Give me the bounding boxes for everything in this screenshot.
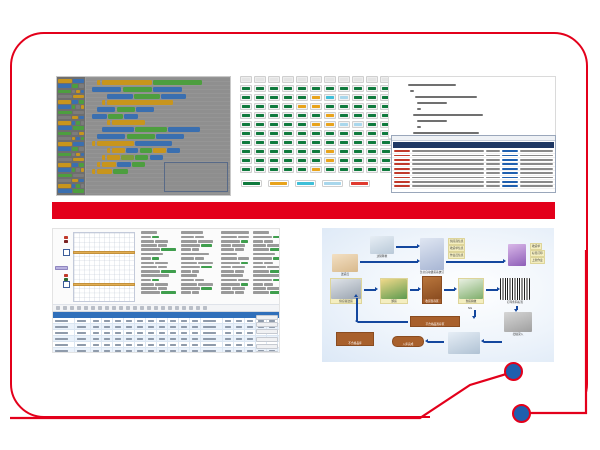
table-cell[interactable] — [146, 318, 157, 323]
palette-block[interactable] — [58, 184, 84, 188]
table-cell[interactable] — [53, 318, 75, 323]
table-cell[interactable] — [179, 342, 190, 347]
table-cell[interactable] — [223, 330, 234, 335]
form-field-row[interactable] — [253, 287, 280, 290]
table-cell[interactable] — [146, 324, 157, 329]
slot-cell[interactable] — [254, 112, 266, 119]
table-cell[interactable] — [102, 330, 113, 335]
slot-cell[interactable] — [310, 139, 322, 146]
slot-cell[interactable] — [240, 157, 252, 164]
form-field-row[interactable] — [141, 257, 179, 260]
table-cell[interactable] — [102, 348, 113, 353]
table-cell[interactable] — [75, 342, 91, 347]
palette-block[interactable] — [58, 168, 84, 172]
slot-cell[interactable] — [338, 157, 350, 164]
slot-column-header[interactable] — [352, 76, 364, 83]
form-field-row[interactable] — [253, 270, 280, 273]
palette-block[interactable] — [58, 79, 84, 83]
table-cell[interactable] — [124, 342, 135, 347]
form-upper-area[interactable] — [53, 229, 279, 305]
toolbar-icon[interactable] — [161, 306, 165, 310]
table-cell[interactable] — [223, 348, 234, 353]
slot-cell[interactable] — [268, 121, 280, 128]
table-cell[interactable] — [91, 330, 102, 335]
slot-cell[interactable] — [310, 94, 322, 101]
slot-cell[interactable] — [338, 166, 350, 173]
form-field-row[interactable] — [253, 240, 280, 243]
slot-cell[interactable] — [254, 148, 266, 155]
table-cell[interactable] — [53, 342, 75, 347]
table-cell[interactable] — [245, 348, 256, 353]
panel-slot-grid[interactable] — [240, 76, 392, 202]
slot-cell[interactable] — [240, 112, 252, 119]
slot-cell[interactable] — [240, 121, 252, 128]
palette-block[interactable] — [58, 105, 84, 109]
slot-cell[interactable] — [310, 148, 322, 155]
table-cell[interactable] — [223, 318, 234, 323]
slot-cell[interactable] — [366, 157, 378, 164]
datagrid-side-buttons[interactable] — [256, 315, 278, 353]
table-cell[interactable] — [124, 348, 135, 353]
slot-cell[interactable] — [366, 139, 378, 146]
code-block[interactable] — [107, 94, 228, 99]
slot-cell[interactable] — [296, 121, 308, 128]
flow-node-reject-staging[interactable]: 不合格品暂存区 — [410, 316, 460, 327]
slot-column-header[interactable] — [282, 76, 294, 83]
slot-cell[interactable] — [240, 103, 252, 110]
toolbar-icon[interactable] — [154, 306, 158, 310]
slot-column-header[interactable] — [240, 76, 252, 83]
table-cell[interactable] — [190, 336, 201, 341]
form-field-row[interactable] — [181, 287, 219, 290]
toolbar-icon[interactable] — [182, 306, 186, 310]
table-cell[interactable] — [135, 336, 146, 341]
toolbar-icon[interactable] — [77, 306, 81, 310]
table-cell[interactable] — [146, 330, 157, 335]
toolbar-icon[interactable] — [126, 306, 130, 310]
slot-cell[interactable] — [352, 148, 364, 155]
form-field-row[interactable] — [253, 279, 280, 282]
form-field-column[interactable] — [181, 231, 219, 296]
slot-column-header[interactable] — [324, 76, 336, 83]
slot-cell[interactable] — [282, 130, 294, 137]
toolbar-icon[interactable] — [98, 306, 102, 310]
palette-block[interactable] — [58, 90, 84, 94]
slot-cell[interactable] — [310, 121, 322, 128]
table-cell[interactable] — [201, 342, 223, 347]
table-cell[interactable] — [201, 330, 223, 335]
flow-node-scale[interactable]: 过磅称重 — [370, 236, 394, 258]
table-cell[interactable] — [102, 336, 113, 341]
form-field-row[interactable] — [141, 244, 179, 247]
table-cell[interactable] — [113, 318, 124, 323]
slot-cell[interactable] — [268, 85, 280, 92]
code-block[interactable] — [107, 120, 228, 125]
palette-block[interactable] — [58, 158, 84, 162]
form-field-column[interactable] — [141, 231, 179, 296]
slot-cell[interactable] — [324, 103, 336, 110]
table-cell[interactable] — [245, 330, 256, 335]
slot-column-header[interactable] — [254, 76, 266, 83]
flow-node-barcode-print[interactable]: 打印条码标签 — [500, 278, 530, 304]
form-field-row[interactable] — [141, 287, 179, 290]
table-cell[interactable] — [113, 348, 124, 353]
slot-cell[interactable] — [366, 112, 378, 119]
slot-cell[interactable] — [296, 85, 308, 92]
slot-cell[interactable] — [296, 94, 308, 101]
table-cell[interactable] — [157, 324, 168, 329]
slot-cell[interactable] — [324, 94, 336, 101]
slot-cell[interactable] — [338, 121, 350, 128]
slot-cell[interactable] — [338, 103, 350, 110]
table-cell[interactable] — [223, 324, 234, 329]
toolbar-icon[interactable] — [70, 306, 74, 310]
slot-column-header[interactable] — [296, 76, 308, 83]
form-field-row[interactable] — [253, 283, 280, 286]
table-cell[interactable] — [91, 348, 102, 353]
slot-cell[interactable] — [240, 166, 252, 173]
table-cell[interactable] — [157, 336, 168, 341]
log-row-list[interactable] — [392, 150, 555, 190]
toolbar-icon[interactable] — [63, 306, 67, 310]
slot-cell[interactable] — [296, 112, 308, 119]
toolbar-icon[interactable] — [112, 306, 116, 310]
slot-cell[interactable] — [338, 94, 350, 101]
form-field-row[interactable] — [141, 283, 179, 286]
slot-cell[interactable] — [240, 139, 252, 146]
slot-cell[interactable] — [366, 166, 378, 173]
form-field-row[interactable] — [141, 248, 179, 251]
table-cell[interactable] — [245, 342, 256, 347]
form-field-row[interactable] — [181, 279, 219, 282]
table-cell[interactable] — [179, 324, 190, 329]
table-cell[interactable] — [75, 336, 91, 341]
slot-cell[interactable] — [352, 94, 364, 101]
slot-cell[interactable] — [366, 148, 378, 155]
slot-cell[interactable] — [324, 139, 336, 146]
slot-cell[interactable] — [240, 130, 252, 137]
slot-cell[interactable] — [324, 148, 336, 155]
table-cell[interactable] — [113, 330, 124, 335]
table-cell[interactable] — [168, 348, 179, 353]
form-field-row[interactable] — [181, 236, 219, 239]
slot-cell[interactable] — [254, 157, 266, 164]
table-cell[interactable] — [168, 342, 179, 347]
palette-block[interactable] — [58, 111, 84, 115]
datagrid-body[interactable] — [53, 318, 279, 354]
form-field-row[interactable] — [181, 240, 219, 243]
slot-cell[interactable] — [268, 166, 280, 173]
toolbar-icon[interactable] — [91, 306, 95, 310]
palette-block[interactable] — [58, 153, 84, 157]
slot-cell[interactable] — [310, 85, 322, 92]
slot-cell[interactable] — [352, 121, 364, 128]
table-cell[interactable] — [190, 342, 201, 347]
table-cell[interactable] — [113, 324, 124, 329]
table-cell[interactable] — [179, 330, 190, 335]
form-field-row[interactable] — [141, 236, 179, 239]
table-cell[interactable] — [146, 348, 157, 353]
table-cell[interactable] — [157, 342, 168, 347]
code-block[interactable] — [107, 148, 228, 153]
connector-dot-upper[interactable] — [504, 362, 523, 381]
table-cell[interactable] — [102, 318, 113, 323]
slot-cell[interactable] — [282, 103, 294, 110]
table-cell[interactable] — [190, 318, 201, 323]
flow-node-supplier-person[interactable]: 送货员 — [332, 254, 358, 276]
palette-block[interactable] — [58, 116, 84, 120]
side-action-button[interactable] — [256, 329, 278, 334]
slot-cell[interactable] — [268, 139, 280, 146]
flow-node-inspection[interactable]: 到货验收 — [458, 278, 484, 304]
slot-cell[interactable] — [310, 166, 322, 173]
table-cell[interactable] — [146, 336, 157, 341]
palette-block[interactable] — [58, 142, 84, 146]
form-field-row[interactable] — [141, 266, 179, 269]
code-block[interactable] — [102, 127, 228, 132]
form-field-row[interactable] — [181, 266, 219, 269]
blocks-palette[interactable] — [57, 77, 86, 195]
table-cell[interactable] — [234, 330, 245, 335]
form-field-row[interactable] — [181, 244, 219, 247]
slot-cell[interactable] — [352, 103, 364, 110]
code-block[interactable] — [102, 100, 228, 105]
table-cell[interactable] — [102, 324, 113, 329]
slot-cell[interactable] — [268, 130, 280, 137]
slot-cell[interactable] — [338, 148, 350, 155]
table-cell[interactable] — [234, 348, 245, 353]
slot-grid[interactable] — [240, 76, 392, 173]
table-cell[interactable] — [190, 330, 201, 335]
table-cell[interactable] — [75, 348, 91, 353]
table-cell[interactable] — [91, 318, 102, 323]
code-block[interactable] — [92, 114, 228, 119]
table-cell[interactable] — [135, 348, 146, 353]
table-cell[interactable] — [168, 324, 179, 329]
toolbar-icon[interactable] — [133, 306, 137, 310]
slot-cell[interactable] — [268, 157, 280, 164]
slot-cell[interactable] — [366, 85, 378, 92]
panel-data-form[interactable] — [52, 228, 280, 353]
form-field-row[interactable] — [253, 266, 280, 269]
slot-cell[interactable] — [366, 103, 378, 110]
toolbar-icon[interactable] — [196, 306, 200, 310]
toolbar-icon[interactable] — [140, 306, 144, 310]
form-field-row[interactable] — [181, 248, 219, 251]
toolbar-icon[interactable] — [119, 306, 123, 310]
table-cell[interactable] — [168, 318, 179, 323]
palette-block[interactable] — [58, 147, 84, 151]
palette-block[interactable] — [58, 121, 84, 125]
slot-cell[interactable] — [282, 166, 294, 173]
slot-cell[interactable] — [310, 130, 322, 137]
toolbar-icon[interactable] — [84, 306, 88, 310]
form-node-box-2[interactable] — [63, 281, 70, 288]
form-field-row[interactable] — [253, 291, 280, 294]
slot-cell[interactable] — [268, 94, 280, 101]
table-cell[interactable] — [53, 336, 75, 341]
slot-cell[interactable] — [268, 112, 280, 119]
side-action-button[interactable] — [256, 315, 278, 320]
form-field-row[interactable] — [181, 291, 219, 294]
slot-cell[interactable] — [324, 121, 336, 128]
table-cell[interactable] — [201, 348, 223, 353]
table-cell[interactable] — [234, 336, 245, 341]
flow-node-unload[interactable]: 卸货 — [380, 278, 408, 304]
slot-cell[interactable] — [366, 130, 378, 137]
palette-block[interactable] — [58, 126, 84, 130]
table-row[interactable] — [53, 348, 279, 353]
table-cell[interactable] — [124, 330, 135, 335]
slot-cell[interactable] — [296, 166, 308, 173]
blocks-canvas[interactable] — [86, 77, 230, 195]
palette-block[interactable] — [58, 137, 84, 141]
table-cell[interactable] — [201, 336, 223, 341]
form-field-row[interactable] — [141, 279, 179, 282]
toolbar-icon[interactable] — [105, 306, 109, 310]
slot-cell[interactable] — [254, 166, 266, 173]
flow-node-terminal[interactable]: 紧急全自动储货系统订单 — [420, 238, 444, 274]
code-block[interactable] — [97, 107, 228, 112]
code-block[interactable] — [92, 141, 228, 146]
table-cell[interactable] — [53, 348, 75, 353]
side-action-button[interactable] — [256, 344, 278, 349]
palette-block[interactable] — [58, 174, 84, 178]
table-cell[interactable] — [245, 336, 256, 341]
form-field-row[interactable] — [181, 283, 219, 286]
slot-cell[interactable] — [310, 103, 322, 110]
table-cell[interactable] — [135, 330, 146, 335]
slot-cell[interactable] — [324, 112, 336, 119]
slot-cell[interactable] — [268, 103, 280, 110]
slot-cell[interactable] — [254, 94, 266, 101]
table-cell[interactable] — [179, 318, 190, 323]
form-field-row[interactable] — [141, 270, 179, 273]
table-cell[interactable] — [113, 342, 124, 347]
form-field-row[interactable] — [181, 262, 219, 265]
table-cell[interactable] — [223, 342, 234, 347]
form-field-row[interactable] — [141, 262, 179, 265]
table-cell[interactable] — [135, 324, 146, 329]
toolbar-icon[interactable] — [168, 306, 172, 310]
slot-cell[interactable] — [310, 112, 322, 119]
palette-block[interactable] — [58, 189, 84, 193]
slot-cell[interactable] — [352, 112, 364, 119]
slot-cell[interactable] — [324, 130, 336, 137]
slot-cell[interactable] — [296, 103, 308, 110]
connector-dot-lower[interactable] — [512, 404, 531, 423]
table-cell[interactable] — [190, 348, 201, 353]
form-field-row[interactable] — [181, 257, 219, 260]
toolbar-icon[interactable] — [147, 306, 151, 310]
flow-node-printer[interactable] — [508, 244, 526, 266]
table-cell[interactable] — [201, 318, 223, 323]
slot-cell[interactable] — [296, 157, 308, 164]
table-cell[interactable] — [53, 330, 75, 335]
table-cell[interactable] — [91, 324, 102, 329]
slot-cell[interactable] — [324, 85, 336, 92]
flow-node-inbound-complete[interactable]: 入库完成 — [392, 336, 424, 347]
slot-cell[interactable] — [240, 94, 252, 101]
form-field-row[interactable] — [141, 240, 179, 243]
slot-column-header[interactable] — [268, 76, 280, 83]
toolbar-icon[interactable] — [189, 306, 193, 310]
slot-cell[interactable] — [282, 157, 294, 164]
table-cell[interactable] — [157, 330, 168, 335]
table-cell[interactable] — [113, 336, 124, 341]
slot-cell[interactable] — [268, 148, 280, 155]
table-cell[interactable] — [157, 348, 168, 353]
slot-cell[interactable] — [296, 139, 308, 146]
slot-column-header[interactable] — [338, 76, 350, 83]
table-cell[interactable] — [75, 330, 91, 335]
slot-cell[interactable] — [296, 130, 308, 137]
slot-cell[interactable] — [352, 157, 364, 164]
table-cell[interactable] — [245, 318, 256, 323]
slot-cell[interactable] — [352, 130, 364, 137]
table-cell[interactable] — [190, 324, 201, 329]
palette-block[interactable] — [58, 100, 84, 104]
code-block[interactable] — [97, 80, 228, 85]
table-cell[interactable] — [168, 330, 179, 335]
slot-cell[interactable] — [254, 103, 266, 110]
flow-node-inbound-staging[interactable]: 收货暂存区 — [422, 276, 442, 304]
table-cell[interactable] — [102, 342, 113, 347]
table-cell[interactable] — [245, 324, 256, 329]
form-field-row[interactable] — [253, 236, 280, 239]
log-row[interactable] — [392, 185, 555, 189]
palette-block[interactable] — [58, 95, 84, 99]
slot-cell[interactable] — [310, 157, 322, 164]
slot-cell[interactable] — [254, 85, 266, 92]
slot-cell[interactable] — [254, 130, 266, 137]
slot-column-header[interactable] — [310, 76, 322, 83]
table-cell[interactable] — [234, 324, 245, 329]
slot-cell[interactable] — [254, 121, 266, 128]
toolbar-icon[interactable] — [203, 306, 207, 310]
form-field-row[interactable] — [253, 257, 280, 260]
flow-node-scan-entry[interactable]: 扫描录入 — [504, 312, 532, 336]
side-action-button[interactable] — [256, 337, 278, 342]
form-node-box-1[interactable] — [63, 249, 70, 256]
slot-cell[interactable] — [282, 112, 294, 119]
form-field-row[interactable] — [141, 291, 179, 294]
palette-block[interactable] — [58, 179, 84, 183]
table-cell[interactable] — [91, 336, 102, 341]
code-block[interactable] — [102, 155, 228, 160]
slot-cell[interactable] — [366, 121, 378, 128]
slot-cell[interactable] — [338, 130, 350, 137]
slot-cell[interactable] — [324, 157, 336, 164]
table-cell[interactable] — [201, 324, 223, 329]
slot-cell[interactable] — [240, 148, 252, 155]
table-cell[interactable] — [135, 342, 146, 347]
code-block[interactable] — [92, 87, 228, 92]
form-field-row[interactable] — [181, 270, 219, 273]
slot-cell[interactable] — [282, 121, 294, 128]
slot-cell[interactable] — [338, 139, 350, 146]
table-cell[interactable] — [135, 318, 146, 323]
slot-cell[interactable] — [338, 112, 350, 119]
slot-cell[interactable] — [324, 166, 336, 173]
form-gantt-bar-2[interactable] — [73, 283, 135, 286]
form-field-row[interactable] — [253, 262, 280, 265]
panel-code-editor[interactable] — [388, 76, 556, 139]
table-cell[interactable] — [234, 318, 245, 323]
log-toolbar[interactable] — [392, 136, 555, 141]
side-action-button[interactable] — [256, 322, 278, 327]
table-cell[interactable] — [124, 318, 135, 323]
